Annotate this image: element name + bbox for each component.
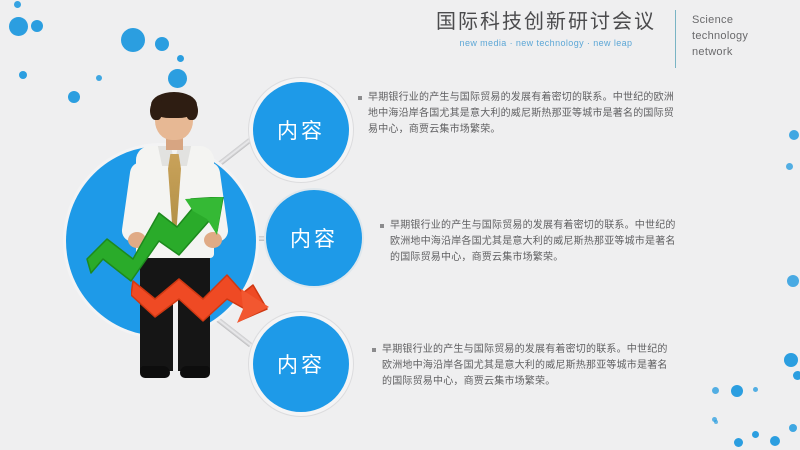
figure-hair-side-left	[150, 100, 162, 120]
slide-header: 国际科技创新研讨会议 new media · new technology · …	[430, 6, 796, 72]
decorative-bubble	[789, 130, 799, 140]
title-block: 国际科技创新研讨会议 new media · new technology · …	[426, 6, 666, 48]
decorative-bubble	[752, 431, 759, 438]
paragraph-text-2: 早期银行业的产生与国际贸易的发展有着密切的联系。中世纪的欧洲地中海沿岸各国尤其是…	[390, 218, 684, 266]
decorative-bubble	[19, 71, 27, 79]
decorative-bubble	[168, 69, 187, 88]
node-label-2: 内容	[290, 223, 338, 253]
content-paragraph-3: 早期银行业的产生与国际贸易的发展有着密切的联系。中世纪的欧洲地中海沿岸各国尤其是…	[372, 342, 672, 390]
decorative-bubble	[731, 385, 743, 397]
page-title: 国际科技创新研讨会议	[426, 6, 666, 36]
header-divider	[675, 10, 676, 68]
decorative-bubble	[177, 55, 184, 62]
figure-shoe-left	[140, 366, 170, 378]
figure-shoe-right	[180, 366, 210, 378]
decorative-bubble	[753, 387, 758, 392]
node-circle-1[interactable]: 内容	[253, 82, 349, 178]
figure-hair-side-right	[186, 100, 198, 120]
tagline-line-1: Science	[692, 12, 748, 28]
decorative-bubble	[121, 28, 145, 52]
decorative-bubble	[786, 163, 793, 170]
tagline-line-3: network	[692, 44, 748, 60]
decorative-bubble	[9, 17, 28, 36]
bullet-marker-icon	[372, 348, 376, 352]
paragraph-text-1: 早期银行业的产生与国际贸易的发展有着密切的联系。中世纪的欧洲地中海沿岸各国尤其是…	[368, 90, 680, 138]
tagline-line-2: technology	[692, 28, 748, 44]
content-paragraph-2: 早期银行业的产生与国际贸易的发展有着密切的联系。中世纪的欧洲地中海沿岸各国尤其是…	[380, 218, 684, 266]
decorative-bubble	[14, 1, 21, 8]
decorative-bubble	[96, 75, 102, 81]
decorative-bubble	[31, 20, 43, 32]
decorative-bubble	[787, 275, 799, 287]
decorative-bubble	[789, 424, 797, 432]
decorative-bubble	[68, 91, 80, 103]
decorative-bubble	[155, 37, 169, 51]
orange-down-trend-arrow-icon	[131, 259, 271, 339]
decorative-bubble	[734, 438, 743, 447]
decorative-bubble	[770, 436, 780, 446]
decorative-bubble	[784, 353, 798, 367]
decorative-bubble	[714, 420, 718, 424]
bullet-marker-icon	[380, 224, 384, 228]
content-paragraph-1: 早期银行业的产生与国际贸易的发展有着密切的联系。中世纪的欧洲地中海沿岸各国尤其是…	[358, 90, 680, 138]
node-label-3: 内容	[277, 349, 325, 379]
node-label-1: 内容	[277, 115, 325, 145]
presentation-slide: 国际科技创新研讨会议 new media · new technology · …	[0, 0, 800, 450]
node-circle-2[interactable]: 内容	[266, 190, 362, 286]
node-circle-3[interactable]: 内容	[253, 316, 349, 412]
decorative-bubble	[793, 371, 800, 380]
bullet-marker-icon	[358, 96, 362, 100]
decorative-bubble	[712, 387, 719, 394]
page-subtitle: new media · new technology · new leap	[426, 38, 666, 48]
paragraph-text-3: 早期银行业的产生与国际贸易的发展有着密切的联系。中世纪的欧洲地中海沿岸各国尤其是…	[382, 342, 672, 390]
header-tagline: Science technology network	[692, 12, 748, 60]
